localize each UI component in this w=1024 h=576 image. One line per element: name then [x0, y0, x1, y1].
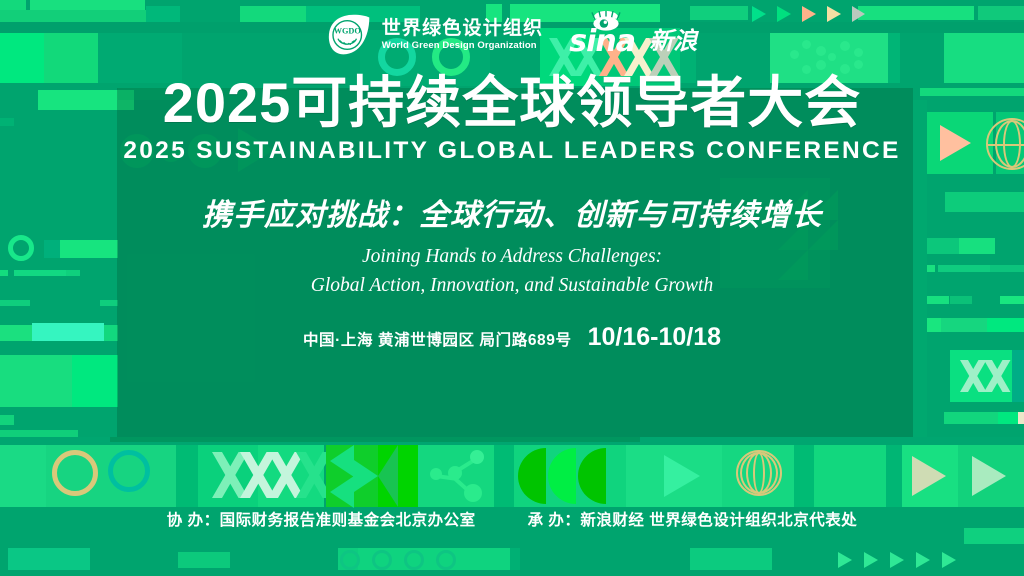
bg-bar	[30, 0, 145, 10]
bg-bar	[178, 552, 230, 568]
ring-circle-icon	[340, 550, 360, 570]
page-title-cn: 2025可持续全球领导者大会	[0, 74, 1024, 132]
bg-bar	[1018, 412, 1024, 424]
svg-text:WGDO: WGDO	[333, 27, 361, 36]
bg-bar	[110, 437, 640, 442]
bg-block	[0, 445, 46, 507]
play-triangle-icon	[890, 552, 904, 568]
bg-bar	[510, 548, 520, 570]
play-triangle-icon	[378, 445, 398, 507]
theme-en-line1: Joining Hands to Address Challenges:	[0, 243, 1024, 272]
ring-circle-icon	[108, 450, 150, 492]
play-triangle-icon	[354, 460, 378, 492]
wgdo-logo: WGDO 世界绿色设计组织 World Green Design Organiz…	[327, 12, 544, 58]
host-text: 承 办：新浪财经 世界绿色设计组织北京代表处	[528, 508, 858, 530]
page-title-en: 2025 SUSTAINABILITY GLOBAL LEADERS CONFE…	[0, 137, 1024, 165]
ring-circle-icon	[404, 550, 424, 570]
bg-bar	[0, 430, 78, 437]
dot-network-icon	[430, 450, 488, 502]
bg-bar	[0, 415, 14, 425]
headline-group: 2025可持续全球领导者大会 2025 SUSTAINABILITY GLOBA…	[0, 74, 1024, 352]
bg-block	[72, 355, 118, 407]
play-triangle-icon	[916, 552, 930, 568]
bg-block	[176, 445, 200, 507]
ring-circle-icon	[372, 550, 392, 570]
play-triangle-icon	[942, 552, 956, 568]
bg-bar	[0, 0, 26, 10]
play-triangle-icon	[330, 476, 354, 508]
play-triangle-icon	[330, 445, 354, 477]
bg-bar	[8, 548, 90, 570]
chevron-arrow-icon	[296, 452, 322, 498]
play-triangle-icon	[972, 456, 1006, 496]
wgdo-logo-text: 世界绿色设计组织 World Green Design Organization	[382, 19, 544, 51]
ring-circle-icon	[52, 450, 98, 496]
bg-block	[1012, 350, 1024, 402]
theme-en: Joining Hands to Address Challenges: Glo…	[0, 243, 1024, 301]
play-triangle-icon	[864, 552, 878, 568]
bg-bar	[998, 412, 1018, 424]
bg-block	[814, 445, 886, 507]
wgdo-name-en: World Green Design Organization	[382, 41, 544, 51]
wgdo-leaf-icon: WGDO	[327, 12, 373, 58]
bg-bar	[944, 412, 998, 424]
bg-block	[0, 355, 72, 407]
conference-poster: WGDO 世界绿色设计组织 World Green Design Organiz…	[0, 0, 1024, 576]
logo-bar: WGDO 世界绿色设计组织 World Green Design Organiz…	[0, 12, 1024, 58]
co-organizer-text: 协 办：国际财务报告准则基金会北京办公室	[167, 508, 476, 530]
theme-en-line2: Global Action, Innovation, and Sustainab…	[0, 272, 1024, 301]
chevron-arrow-icon	[960, 360, 980, 392]
play-triangle-icon	[838, 552, 852, 568]
play-triangle-icon	[912, 456, 946, 496]
play-triangle-icon	[664, 455, 700, 497]
sina-name-cn: 新浪	[649, 21, 697, 56]
chevron-arrow-icon	[268, 452, 294, 498]
bg-block	[794, 445, 814, 507]
sina-logo: sina 新浪	[569, 12, 697, 58]
chevron-arrow-icon	[984, 360, 1004, 392]
bg-bar	[690, 548, 772, 570]
bg-bar	[964, 528, 1024, 544]
globe-wireframe-icon	[736, 450, 782, 496]
date-text: 10/16-10/18	[588, 323, 721, 352]
footer-credits: 协 办：国际财务报告准则基金会北京办公室 承 办：新浪财经 世界绿色设计组织北京…	[0, 508, 1024, 530]
theme-cn: 携手应对挑战：全球行动、创新与可持续增长	[0, 190, 1024, 234]
event-meta: 中国·上海 黄浦世博园区 局门路689号 10/16-10/18	[0, 323, 1024, 352]
chevron-arrow-icon	[212, 452, 238, 498]
wgdo-name-cn: 世界绿色设计组织	[382, 19, 544, 38]
sina-wordmark: sina	[569, 24, 635, 59]
bg-block	[886, 445, 902, 507]
venue-text: 中国·上海 黄浦世博园区 局门路689号	[303, 328, 572, 350]
bg-block	[494, 445, 514, 507]
ring-circle-icon	[436, 550, 456, 570]
chevron-arrow-icon	[240, 452, 266, 498]
